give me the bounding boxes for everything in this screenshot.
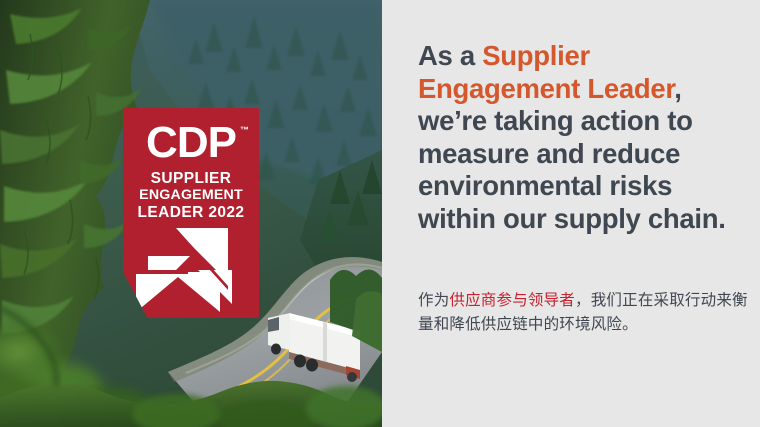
text-panel: As a Supplier Engagement Leader, we’re t…: [382, 0, 760, 427]
headline-part-1: As a: [418, 40, 482, 71]
cdp-supplier-engagement-leader-badge: CDP ™ SUPPLIER ENGAGEMENT LEADER 2022: [123, 108, 259, 318]
badge-line-supplier: SUPPLIER: [123, 170, 259, 187]
badge-line-leader-year: LEADER 2022: [123, 204, 259, 221]
chinese-translation: 作为供应商参与领导者，我们正在采取行动来衡量和降低供应链中的环境风险。: [418, 288, 748, 336]
chinese-part-1: 作为: [418, 291, 449, 309]
badge-line-engagement: ENGAGEMENT: [123, 187, 259, 204]
slide-root: CDP ™ SUPPLIER ENGAGEMENT LEADER 2022: [0, 0, 760, 427]
cdp-logotype: CDP: [123, 121, 259, 165]
cdp-triangles-icon: [132, 226, 250, 314]
background-photo: CDP ™ SUPPLIER ENGAGEMENT LEADER 2022: [0, 0, 382, 427]
headline: As a Supplier Engagement Leader, we’re t…: [418, 40, 748, 235]
chinese-accent: 供应商参与领导者: [449, 291, 575, 309]
trademark-icon: ™: [240, 125, 249, 135]
